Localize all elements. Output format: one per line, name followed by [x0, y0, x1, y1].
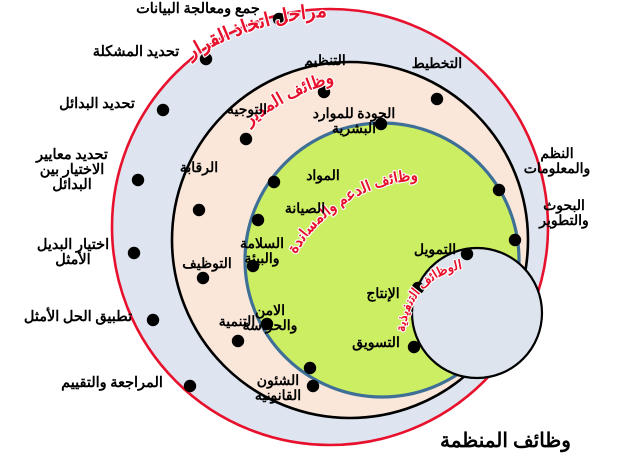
label-decision-stage-6: تطبيق الحل الأمثل — [8, 310, 148, 325]
label-executive-finance: التمويل — [400, 244, 470, 259]
diagram-bottom-title: وظائف المنظمة — [440, 428, 571, 453]
label-manager-function-planning: التخطيط — [398, 58, 476, 73]
label-support-legal-affairs: الشئون القانونيه — [236, 375, 320, 404]
label-support-maintenance: الصيانة — [268, 203, 342, 218]
label-support-safety-environment: السلامة والبيئة — [222, 238, 302, 267]
diagram-canvas: مراحل اتخاذ القرار وظائف المدير وظائف ال… — [0, 0, 620, 464]
label-support-security-guarding: الامن والحراسة — [228, 305, 312, 334]
label-manager-function-controlling: الرقابة — [160, 162, 238, 177]
label-support-research-development: البحوث والتطوير — [512, 200, 616, 229]
label-decision-stage-2: تحديد المشكلة — [76, 45, 196, 60]
label-support-systems-information: النظم والمعلومات — [502, 148, 612, 177]
label-manager-function-directing: التوجيه — [208, 104, 286, 119]
label-executive-marketing: التسويق — [340, 337, 412, 352]
label-decision-stage-1: جمع ومعالجة البيانات — [118, 2, 278, 17]
label-decision-stage-7: المراجعة والتقييم — [36, 376, 188, 391]
label-support-materials: المواد — [290, 170, 356, 185]
label-support-hr-quality: الجودة للموارد البشرية — [295, 108, 413, 137]
label-decision-stage-5: اختيار البديل الأمثل — [18, 238, 128, 268]
label-decision-stage-4: تحديد معايير الاختيار بين البدائل — [16, 148, 128, 194]
label-decision-stage-3: تحديد البدائل — [38, 97, 156, 112]
label-executive-production: الإنتاج — [350, 288, 416, 303]
label-manager-function-organizing: التنظيم — [286, 55, 364, 70]
